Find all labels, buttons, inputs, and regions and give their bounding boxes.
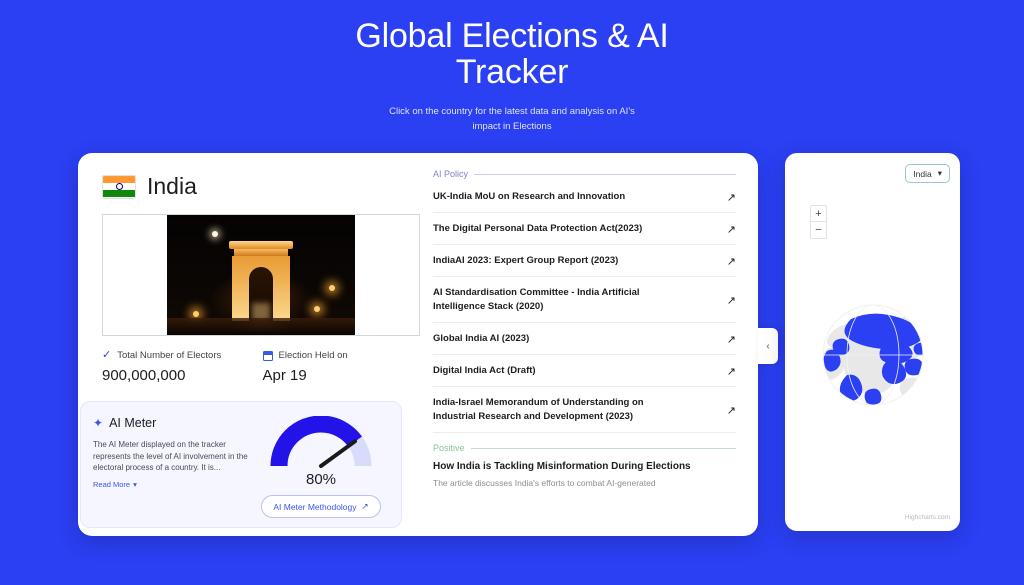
ai-meter-methodology-button[interactable]: AI Meter Methodology ↗ (261, 495, 380, 518)
ai-meter-description: The AI Meter displayed on the tracker re… (93, 439, 253, 474)
ai-meter-panel: ✦ AI Meter The AI Meter displayed on the… (80, 401, 402, 528)
policy-item-label: Digital India Act (Draft) (433, 364, 536, 378)
road-shape (167, 318, 355, 335)
read-more-label: Read More (93, 480, 130, 489)
country-select-dropdown[interactable]: India ▾ (905, 164, 950, 183)
sparkle-icon: ✦ (93, 417, 103, 429)
page-title: Global Elections & AI Tracker (302, 18, 722, 90)
external-link-icon: ↗ (727, 404, 736, 417)
policy-item-label: AI Standardisation Committee - India Art… (433, 286, 688, 314)
gauge-svg (269, 416, 373, 470)
external-link-icon: ↗ (727, 255, 736, 268)
street-lamp (193, 311, 199, 317)
country-header: India (102, 173, 423, 200)
external-link-icon: ↗ (727, 223, 736, 236)
section-divider (474, 174, 736, 175)
read-more-link[interactable]: Read More ▾ (93, 480, 137, 489)
calendar-icon (263, 351, 273, 361)
policy-list-item[interactable]: Digital India Act (Draft)↗ (433, 355, 736, 387)
country-stats: ✓ Total Number of Electors 900,000,000 E… (102, 350, 423, 384)
stat-election-date: Election Held on Apr 19 (263, 350, 424, 384)
external-link-icon: ↗ (727, 365, 736, 378)
ai-meter-gauge (269, 416, 373, 470)
policy-item-label: Global India AI (2023) (433, 332, 529, 346)
methodology-label: AI Meter Methodology (273, 502, 356, 512)
collapse-panel-button[interactable]: ‹ (758, 328, 778, 364)
section-divider (471, 448, 736, 449)
india-gate-monument (225, 241, 297, 321)
india-flag-icon (102, 175, 136, 199)
ai-meter-value: 80% (306, 471, 336, 488)
positive-article-title[interactable]: How India is Tackling Misinformation Dur… (433, 461, 736, 472)
globe-visualization[interactable] (785, 293, 960, 423)
external-link-icon: ↗ (727, 333, 736, 346)
zoom-in-button[interactable]: + (811, 206, 826, 222)
stat-label-text: Total Number of Electors (117, 350, 221, 361)
country-name: India (147, 173, 197, 200)
street-lamp (329, 285, 335, 291)
positive-article-description: The article discusses India's efforts to… (433, 477, 736, 490)
stat-value: 900,000,000 (102, 367, 263, 384)
policy-item-label: IndiaAI 2023: Expert Group Report (2023) (433, 254, 618, 268)
highcharts-credit: Highcharts.com (905, 514, 950, 521)
ai-policy-section-header: AI Policy (433, 169, 736, 179)
external-link-icon: ↗ (362, 501, 369, 512)
chevron-left-icon: ‹ (766, 341, 769, 352)
country-select-value: India (913, 169, 931, 179)
zoom-out-button[interactable]: − (811, 222, 826, 238)
ai-policy-list: UK-India MoU on Research and Innovation↗… (433, 181, 736, 433)
policy-list-item[interactable]: Global India AI (2023)↗ (433, 323, 736, 355)
policy-list-item[interactable]: IndiaAI 2023: Expert Group Report (2023)… (433, 245, 736, 277)
globe-map-panel: India ▾ + − (785, 153, 960, 531)
stat-label-text: Election Held on (279, 350, 348, 361)
policy-list-item[interactable]: The Digital Personal Data Protection Act… (433, 213, 736, 245)
country-photo-frame (102, 214, 420, 336)
policy-list-item[interactable]: AI Standardisation Committee - India Art… (433, 277, 736, 323)
map-zoom-controls: + − (810, 205, 827, 239)
chevron-down-icon: ▾ (133, 480, 137, 489)
globe-svg (785, 293, 960, 423)
country-detail-card: India (78, 153, 758, 536)
positive-section-header: Positive (433, 443, 736, 453)
policy-item-label: India-Israel Memorandum of Understanding… (433, 396, 688, 424)
external-link-icon: ↗ (727, 191, 736, 204)
page-subtitle: Click on the country for the latest data… (377, 104, 647, 134)
chevron-down-icon: ▾ (938, 168, 942, 179)
policy-item-label: UK-India MoU on Research and Innovation (433, 190, 625, 204)
policy-list-item[interactable]: India-Israel Memorandum of Understanding… (433, 387, 736, 433)
india-gate-photo (167, 215, 355, 335)
policy-and-news-column: AI Policy UK-India MoU on Research and I… (423, 153, 758, 536)
stat-value: Apr 19 (263, 367, 424, 384)
moon-shape (212, 231, 218, 237)
page-header: Global Elections & AI Tracker Click on t… (0, 18, 1024, 134)
section-title: Positive (433, 443, 465, 453)
policy-list-item[interactable]: UK-India MoU on Research and Innovation↗ (433, 181, 736, 213)
section-title: AI Policy (433, 169, 468, 179)
app-root: Global Elections & AI Tracker Click on t… (0, 0, 1024, 585)
country-summary-column: India (78, 153, 423, 536)
ai-meter-title: AI Meter (109, 416, 156, 430)
street-lamp (314, 306, 320, 312)
policy-item-label: The Digital Personal Data Protection Act… (433, 222, 642, 236)
external-link-icon: ↗ (727, 294, 736, 307)
check-icon: ✓ (102, 350, 111, 361)
stat-total-electors: ✓ Total Number of Electors 900,000,000 (102, 350, 263, 384)
